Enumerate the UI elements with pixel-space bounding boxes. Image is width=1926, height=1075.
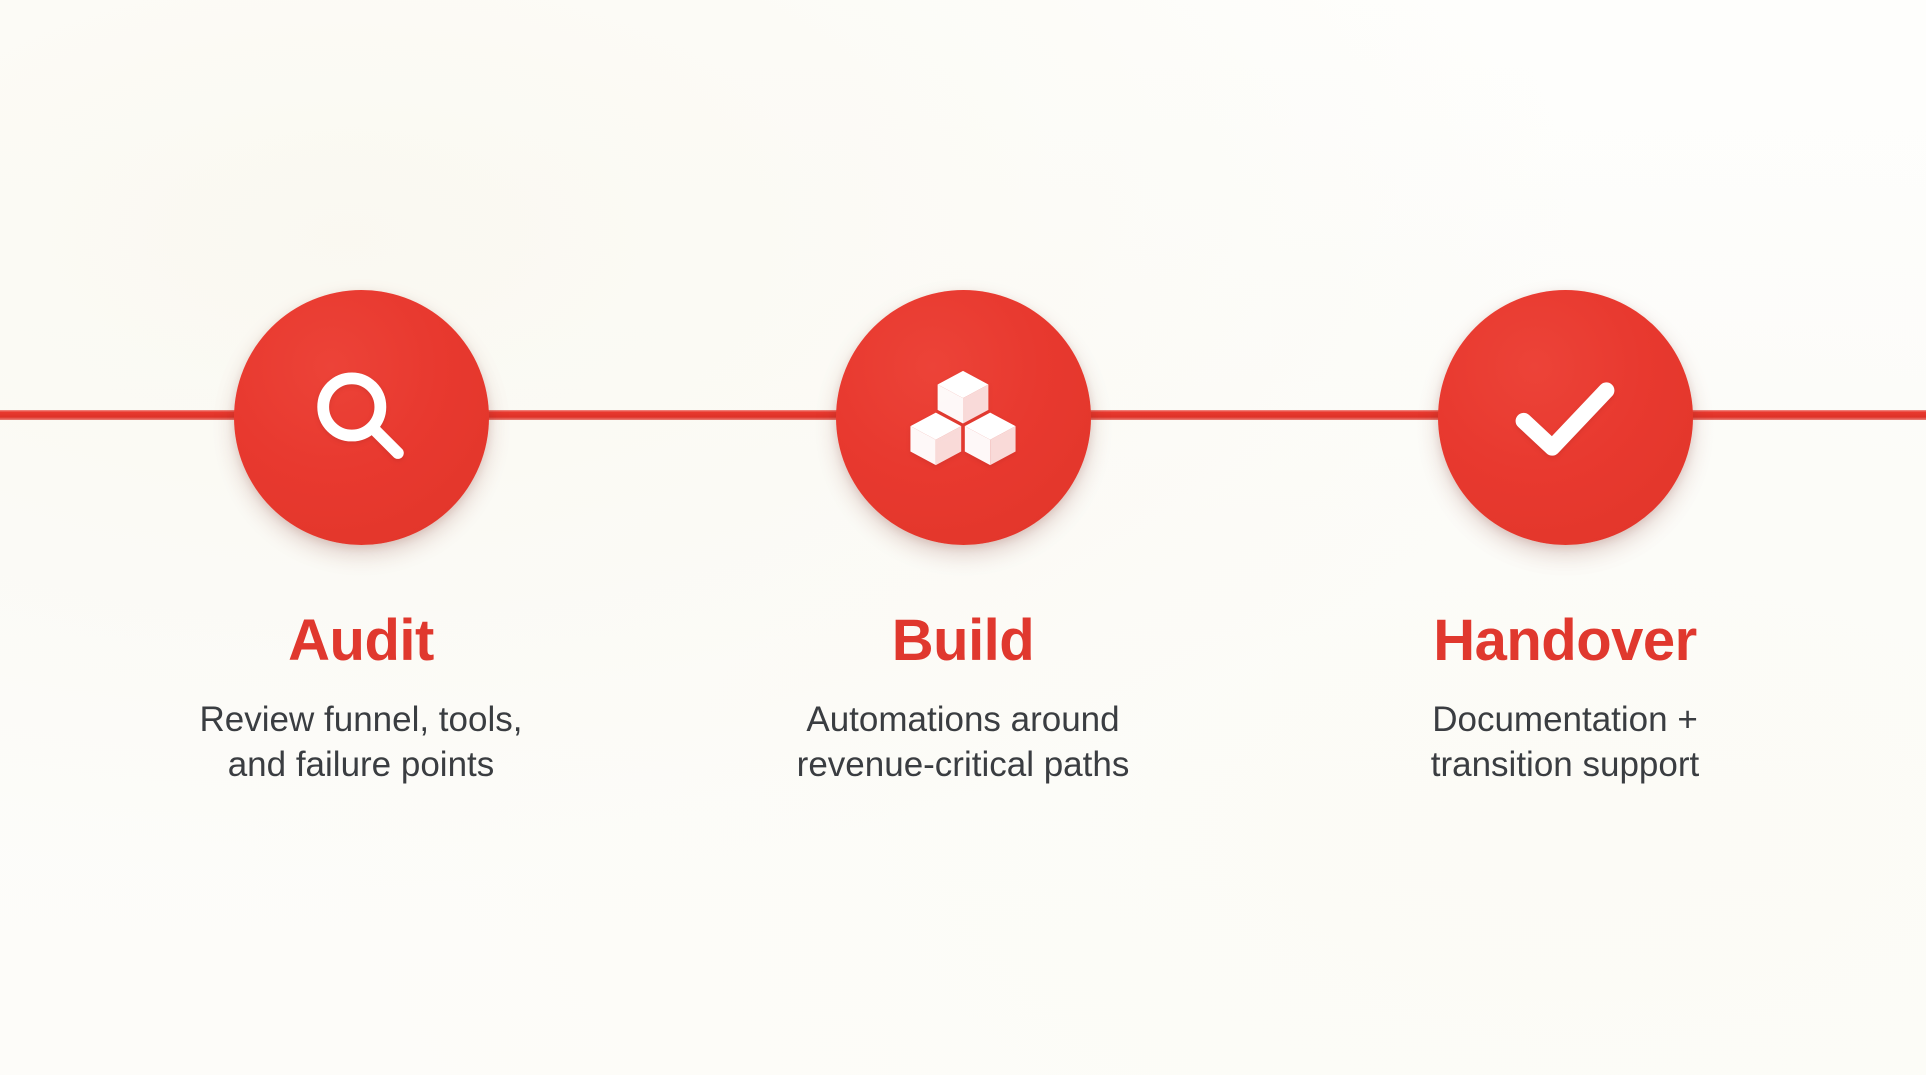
timeline-steps: Audit Review funnel, tools, and failure … <box>0 0 1926 1075</box>
step-description-line-1: Documentation + <box>1431 698 1699 743</box>
step-description-line-2: transition support <box>1431 743 1699 788</box>
timeline-step-audit[interactable]: Audit Review funnel, tools, and failure … <box>126 0 596 788</box>
timeline-step-build[interactable]: Build Automations around revenue-critica… <box>728 0 1198 788</box>
step-description-handover: Documentation + transition support <box>1431 698 1699 788</box>
timeline-step-handover[interactable]: Handover Documentation + transition supp… <box>1330 0 1800 788</box>
step-node-circle-build[interactable] <box>836 290 1091 545</box>
step-description-line-2: and failure points <box>200 743 523 788</box>
step-node-circle-audit[interactable] <box>234 290 489 545</box>
step-description-build: Automations around revenue-critical path… <box>797 698 1130 788</box>
checkmark-icon <box>1502 355 1628 481</box>
step-description-line-1: Automations around <box>797 698 1130 743</box>
step-title-build: Build <box>892 612 1034 670</box>
step-title-audit: Audit <box>288 612 434 670</box>
step-description-line-2: revenue-critical paths <box>797 743 1130 788</box>
step-title-handover: Handover <box>1433 612 1697 670</box>
step-description-line-1: Review funnel, tools, <box>200 698 523 743</box>
step-node-circle-handover[interactable] <box>1438 290 1693 545</box>
step-description-audit: Review funnel, tools, and failure points <box>200 698 523 788</box>
process-timeline-diagram: Audit Review funnel, tools, and failure … <box>0 0 1926 1075</box>
stacked-cubes-icon <box>905 360 1021 476</box>
magnifier-search-icon <box>302 359 420 477</box>
